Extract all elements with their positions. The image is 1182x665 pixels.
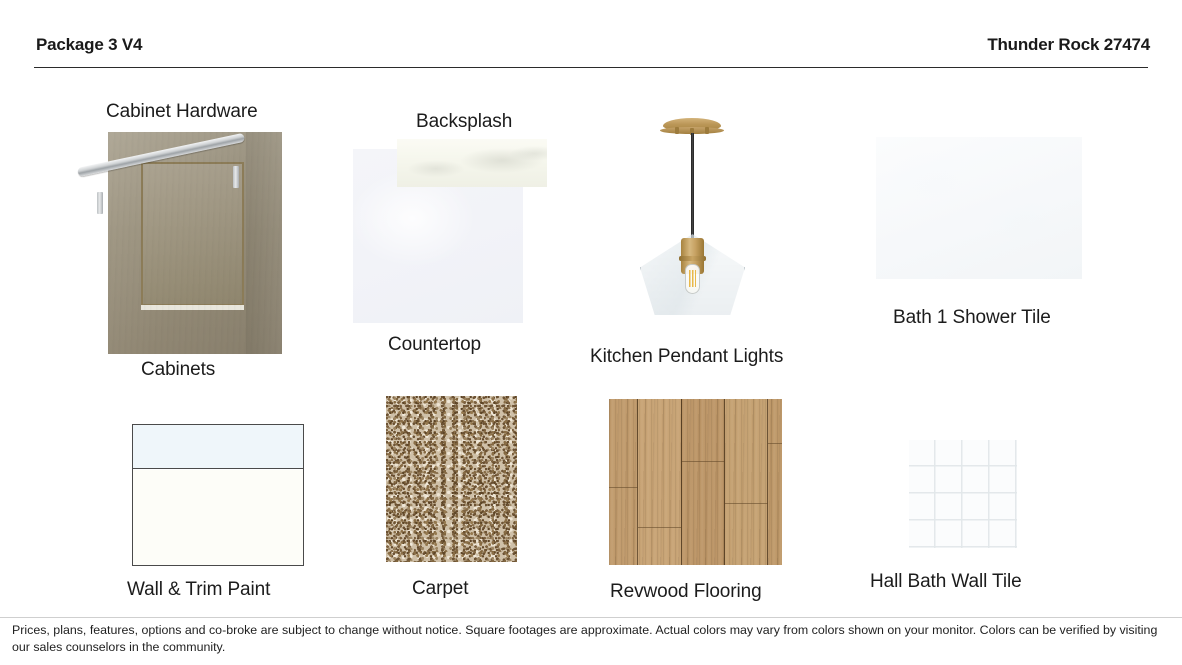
footer-divider — [0, 617, 1182, 618]
plank-seam — [768, 443, 782, 444]
paint-color-wall — [133, 425, 303, 469]
swatch-image-carpet — [386, 396, 517, 562]
paint-color-trim — [133, 470, 303, 565]
bar-pull-handle — [77, 133, 245, 177]
swatch-label-hall-bath-wall-tile: Hall Bath Wall Tile — [870, 571, 1022, 593]
swatch-label-cabinets: Cabinets — [141, 359, 215, 381]
pendant-socket-ring — [679, 256, 706, 261]
swatch-label-bath-1-shower-tile: Bath 1 Shower Tile — [893, 307, 1051, 329]
swatch-image-wall-and-trim-paint — [132, 424, 304, 566]
board-header: Package 3 V4 Thunder Rock 27474 — [0, 0, 1182, 70]
plank-seam — [682, 461, 725, 462]
swatch-image-hall-bath-wall-tile — [909, 440, 1017, 548]
pull-post-left — [97, 192, 103, 214]
swatch-image-kitchen-pendant-lights — [640, 118, 760, 318]
swatch-label-backsplash: Backsplash — [416, 111, 512, 133]
swatch-image-backsplash — [397, 139, 547, 187]
plank-seam — [609, 487, 638, 488]
header-divider — [34, 67, 1148, 68]
swatch-label-carpet: Carpet — [412, 578, 468, 600]
page-title: Package 3 V4 — [36, 35, 142, 55]
pendant-filament — [689, 270, 696, 287]
plank-seam — [638, 527, 682, 528]
plank-seam — [725, 503, 768, 504]
design-package-board: Package 3 V4 Thunder Rock 27474 Cabinet … — [0, 0, 1182, 665]
swatch-label-countertop: Countertop — [388, 334, 481, 356]
pendant-screw — [705, 127, 709, 134]
swatch-label-wall-and-trim-paint: Wall & Trim Paint — [127, 579, 270, 601]
swatch-label-kitchen-pendant-lights: Kitchen Pendant Lights — [590, 346, 783, 368]
swatch-label-cabinet-hardware: Cabinet Hardware — [106, 101, 258, 123]
swatch-image-cabinet-hardware — [78, 140, 258, 202]
swatch-image-bath-1-shower-tile — [876, 137, 1082, 279]
pendant-screw — [675, 127, 679, 134]
community-title: Thunder Rock 27474 — [987, 35, 1150, 55]
pull-post-right — [233, 166, 239, 188]
swatch-label-revwood-flooring: Revwood Flooring — [610, 581, 762, 603]
pendant-cord — [691, 133, 694, 241]
footer-disclaimer: Prices, plans, features, options and co-… — [12, 622, 1162, 656]
swatch-image-revwood-flooring — [609, 399, 782, 565]
